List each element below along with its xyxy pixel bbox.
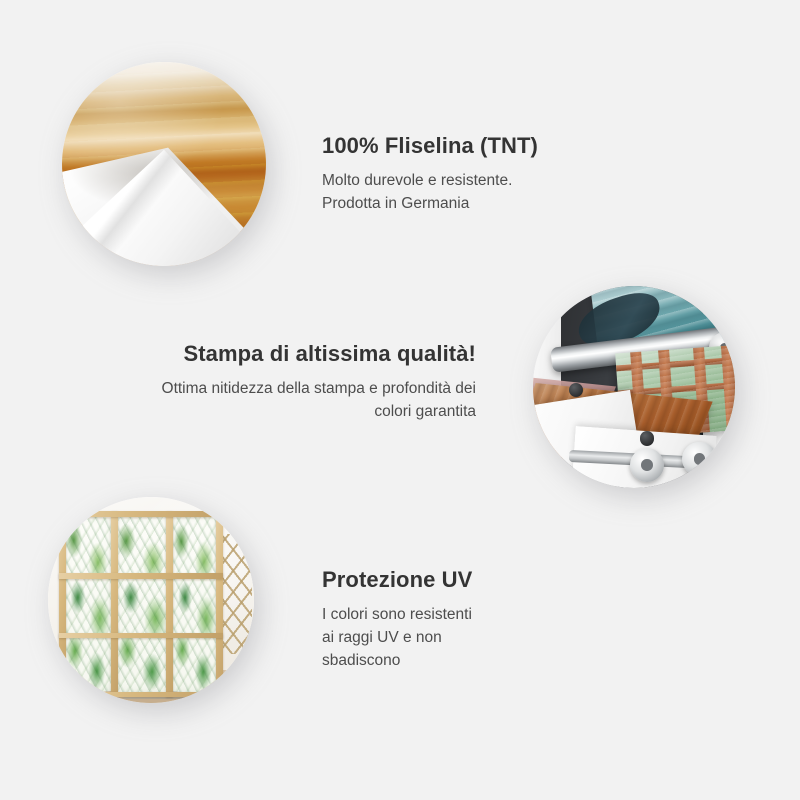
room-scene <box>48 497 254 703</box>
feature-title: Protezione UV <box>322 566 472 594</box>
divider-frame-rail <box>111 511 118 696</box>
leaf-veins <box>114 516 170 693</box>
room-divider-tropical-photo <box>48 497 254 703</box>
divider-frame-rail <box>216 511 223 696</box>
leaf-veins <box>171 514 219 695</box>
divider-frame-rail <box>59 511 66 696</box>
wallpaper-peel-photo <box>62 62 266 266</box>
feature-description: I colori sono resistenti ai raggi UV e n… <box>322 603 472 673</box>
wallpaper-gloss-highlight <box>62 62 266 266</box>
divider-panel <box>63 513 113 694</box>
leaf-veins <box>63 513 113 694</box>
divider-frame-rail <box>59 573 223 578</box>
printer-knob <box>640 431 654 445</box>
divider-frame-rail <box>59 511 223 516</box>
divider-frame-rail <box>59 633 223 638</box>
divider-frame-rail <box>166 511 173 696</box>
printer-wheel <box>682 442 716 476</box>
feature-text-fliselina: 100% Fliselina (TNT) Molto durevole e re… <box>322 132 538 215</box>
feature-title: Stampa di altissima qualità! <box>140 340 476 368</box>
large-format-printer-photo <box>533 286 735 488</box>
feature-text-protezione-uv: Protezione UV I colori sono resistenti a… <box>322 566 472 672</box>
printer-scene <box>533 286 735 488</box>
printer-wheel <box>630 448 664 482</box>
divider-panel <box>171 514 219 695</box>
feature-description: Ottima nitidezza della stampa e profondi… <box>146 377 476 424</box>
product-features-panel: 100% Fliselina (TNT) Molto durevole e re… <box>0 0 800 800</box>
divider-panel <box>114 516 170 693</box>
feature-title: 100% Fliselina (TNT) <box>322 132 538 160</box>
divider-frame-rail <box>59 692 223 697</box>
feature-text-stampa-qualita: Stampa di altissima qualità! Ottima niti… <box>140 340 476 423</box>
feature-description: Molto durevole e resistente. Prodotta in… <box>322 169 538 216</box>
